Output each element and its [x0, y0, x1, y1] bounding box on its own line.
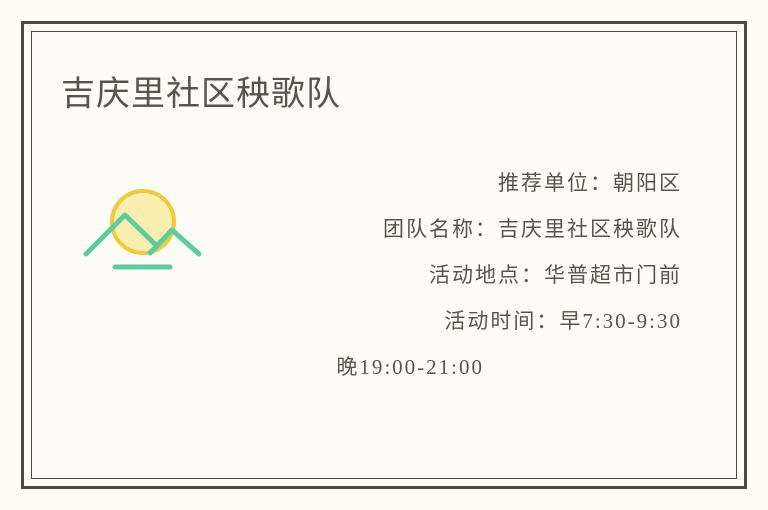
info-line-activity-location: 活动地点：华普超市门前	[212, 252, 682, 298]
card-content-row: 推荐单位：朝阳区 团队名称：吉庆里社区秧歌队 活动地点：华普超市门前 活动时间：…	[32, 160, 736, 420]
sunrise-mountain-icon-svg	[80, 182, 206, 274]
info-line-activity-time-evening: 晚19:00-21:00	[212, 344, 682, 390]
info-card: 吉庆里社区秧歌队 推荐单位：朝阳区 团队名称：吉庆里社区秧歌队	[21, 21, 747, 489]
info-line-activity-time: 活动时间：早7:30-9:30	[212, 298, 682, 344]
info-line-team-name: 团队名称：吉庆里社区秧歌队	[212, 206, 682, 252]
info-list: 推荐单位：朝阳区 团队名称：吉庆里社区秧歌队 活动地点：华普超市门前 活动时间：…	[212, 160, 682, 390]
info-line-recommending-unit: 推荐单位：朝阳区	[212, 160, 682, 206]
page-title: 吉庆里社区秧歌队	[61, 72, 341, 116]
sunrise-mountain-icon	[80, 182, 206, 274]
info-card-inner-frame: 吉庆里社区秧歌队 推荐单位：朝阳区 团队名称：吉庆里社区秧歌队	[31, 31, 737, 479]
